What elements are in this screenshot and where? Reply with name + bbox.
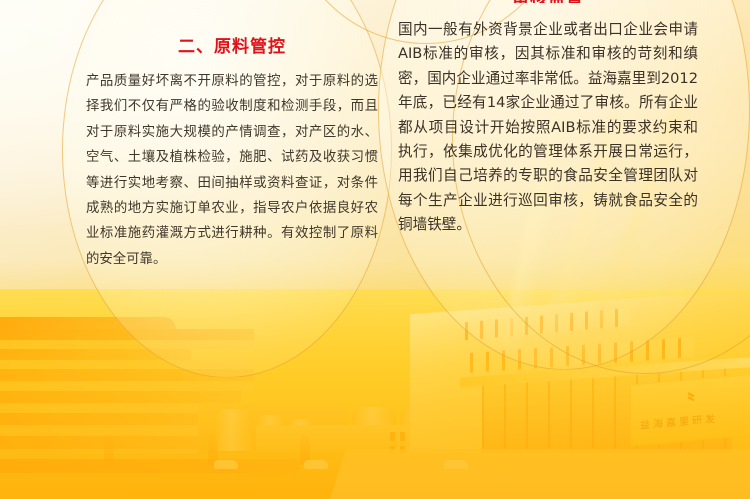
left-section-body: 产品质量好坏离不开原料的管控，对于原料的选择我们不仅有严格的验收制度和检测手段，… — [86, 69, 378, 272]
bottom-glow — [0, 259, 750, 499]
poster-canvas: 〝 益海嘉里研发 二、原料管控 产品质量好坏离不开原料的管控，对于原料的选择我们… — [0, 0, 750, 499]
left-section-heading: 二、原料管控 — [86, 32, 378, 57]
left-text-column: 二、原料管控 产品质量好坏离不开原料的管控，对于原料的选择我们不仅有严格的验收制… — [86, 32, 378, 272]
right-section-heading: 审核监督 — [398, 0, 698, 3]
right-section-body: 国内一般有外资背景企业或者出口企业会申请AIB标准的审核，因其标准和审核的苛刻和… — [398, 18, 698, 238]
right-text-column: 审核监督 国内一般有外资背景企业或者出口企业会申请AIB标准的审核，因其标准和审… — [398, 0, 698, 238]
